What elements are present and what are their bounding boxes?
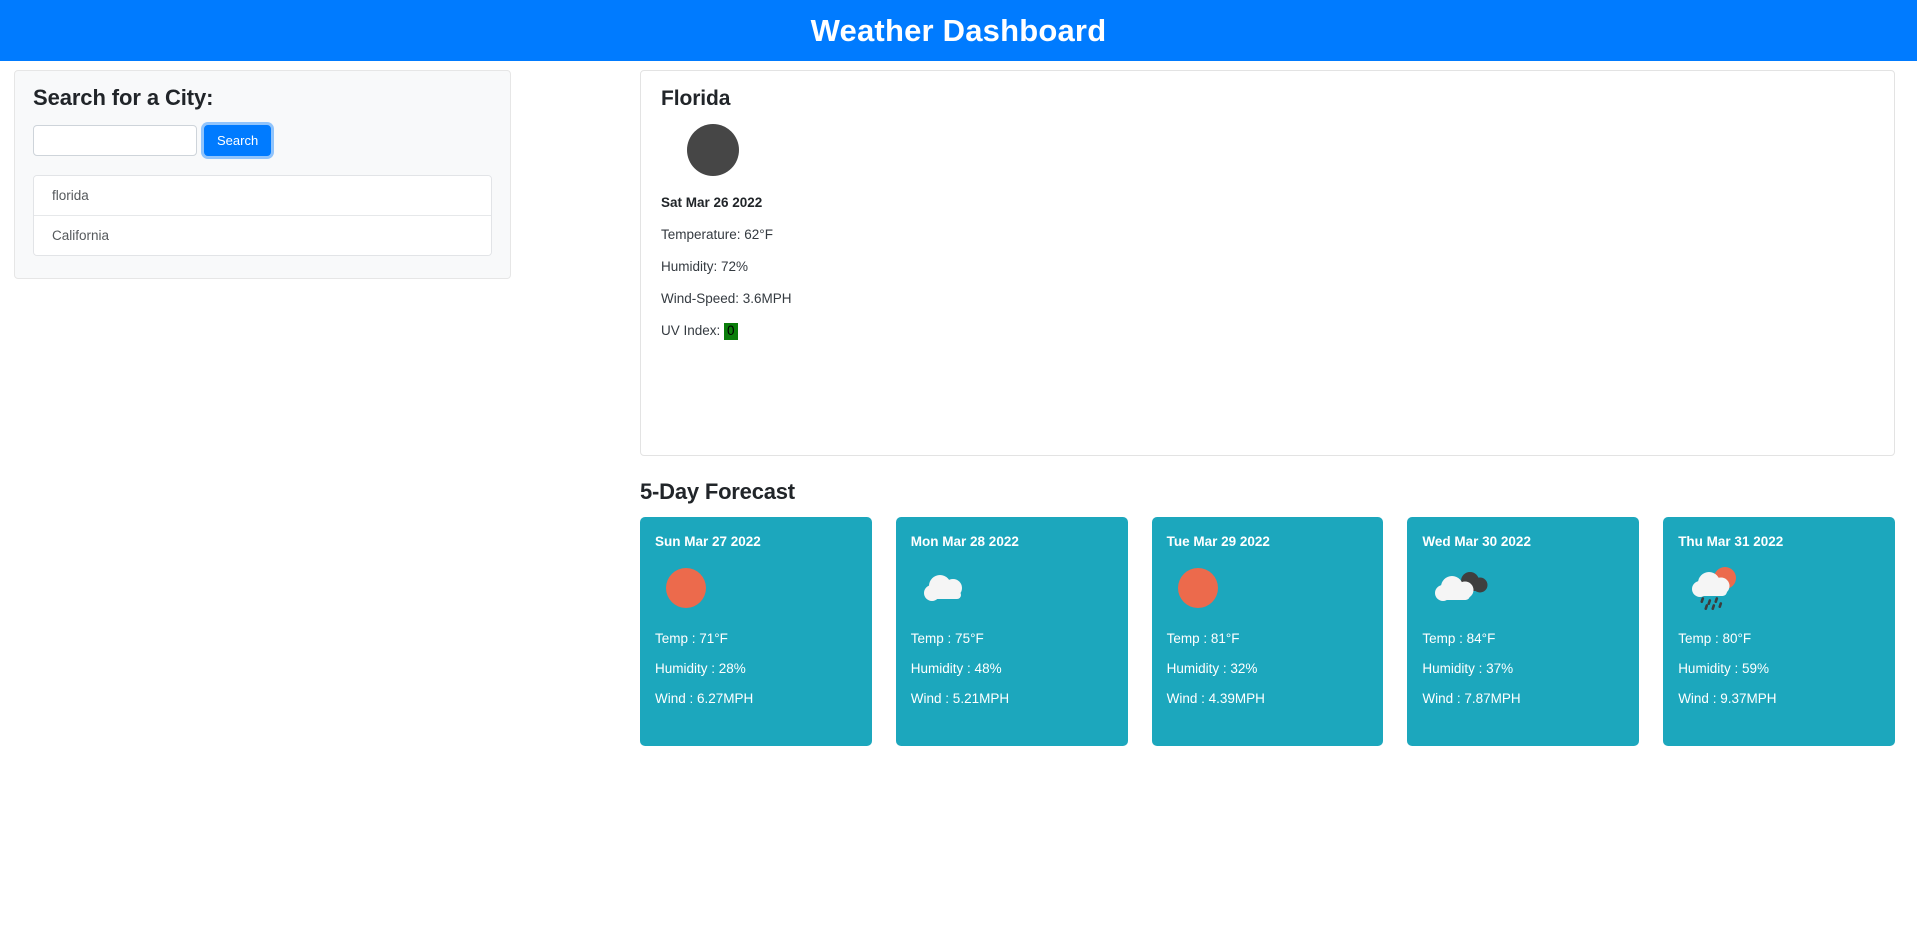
page-title: Weather Dashboard (811, 13, 1107, 49)
forecast-temp: Temp : 81°F (1167, 631, 1369, 646)
search-input[interactable] (33, 125, 197, 156)
forecast-icon-wrap (655, 553, 857, 623)
current-weather-card: Florida Sat Mar 26 2022 Temperature: 62°… (640, 70, 1895, 456)
sun-icon (1177, 567, 1219, 609)
forecast-icon-wrap (1167, 553, 1369, 623)
list-item[interactable]: California (34, 216, 491, 255)
search-button[interactable]: Search (204, 125, 271, 156)
forecast-wind: Wind : 9.37MPH (1678, 691, 1880, 706)
forecast-icon-wrap (911, 553, 1113, 623)
search-panel: Search for a City: Search florida Califo… (14, 70, 511, 279)
uv-index-badge: 0 (724, 323, 738, 340)
weather-column: Florida Sat Mar 26 2022 Temperature: 62°… (640, 61, 1917, 746)
current-city-name: Florida (661, 87, 1874, 111)
search-history-list: florida California (33, 175, 492, 256)
forecast-heading: 5-Day Forecast (640, 479, 1895, 505)
sun-icon (665, 567, 707, 609)
broken-weather-icon (687, 124, 739, 176)
forecast-temp: Temp : 71°F (655, 631, 857, 646)
current-humidity: Humidity: 72% (661, 259, 1874, 274)
forecast-date: Wed Mar 30 2022 (1422, 534, 1624, 549)
forecast-wind: Wind : 4.39MPH (1167, 691, 1369, 706)
current-weather-icon-wrap (661, 111, 1874, 189)
forecast-date: Tue Mar 29 2022 (1167, 534, 1369, 549)
search-column: Search for a City: Search florida Califo… (0, 61, 640, 279)
current-date: Sat Mar 26 2022 (661, 195, 1874, 210)
cloud-icon (921, 568, 973, 608)
forecast-date: Mon Mar 28 2022 (911, 534, 1113, 549)
forecast-temp: Temp : 75°F (911, 631, 1113, 646)
current-uv-index: UV Index: 0 (661, 323, 1874, 340)
forecast-humidity: Humidity : 48% (911, 661, 1113, 676)
forecast-row: Sun Mar 27 2022 Temp : 71°F Humidity : 2… (640, 517, 1895, 746)
forecast-wind: Wind : 6.27MPH (655, 691, 857, 706)
search-row: Search (33, 125, 492, 156)
forecast-icon-wrap (1422, 553, 1624, 623)
uv-index-label: UV Index: (661, 323, 720, 338)
forecast-temp: Temp : 80°F (1678, 631, 1880, 646)
list-item[interactable]: florida (34, 176, 491, 216)
sun-shower-icon (1688, 564, 1744, 612)
forecast-card: Tue Mar 29 2022 Temp : 81°F Humidity : 3… (1152, 517, 1384, 746)
broken-clouds-icon (1432, 567, 1490, 609)
forecast-icon-wrap (1678, 553, 1880, 623)
forecast-humidity: Humidity : 59% (1678, 661, 1880, 676)
app-header: Weather Dashboard (0, 0, 1917, 61)
forecast-date: Sun Mar 27 2022 (655, 534, 857, 549)
search-heading: Search for a City: (33, 85, 492, 111)
forecast-humidity: Humidity : 28% (655, 661, 857, 676)
page-body: Search for a City: Search florida Califo… (0, 61, 1917, 746)
forecast-wind: Wind : 5.21MPH (911, 691, 1113, 706)
forecast-card: Thu Mar 31 2022 (1663, 517, 1895, 746)
forecast-date: Thu Mar 31 2022 (1678, 534, 1880, 549)
forecast-humidity: Humidity : 32% (1167, 661, 1369, 676)
forecast-wind: Wind : 7.87MPH (1422, 691, 1624, 706)
forecast-card: Wed Mar 30 2022 (1407, 517, 1639, 746)
current-wind-speed: Wind-Speed: 3.6MPH (661, 291, 1874, 306)
forecast-card: Sun Mar 27 2022 Temp : 71°F Humidity : 2… (640, 517, 872, 746)
forecast-card: Mon Mar 28 2022 Temp : 75°F Humidity : 4… (896, 517, 1128, 746)
forecast-temp: Temp : 84°F (1422, 631, 1624, 646)
forecast-humidity: Humidity : 37% (1422, 661, 1624, 676)
current-temperature: Temperature: 62°F (661, 227, 1874, 242)
